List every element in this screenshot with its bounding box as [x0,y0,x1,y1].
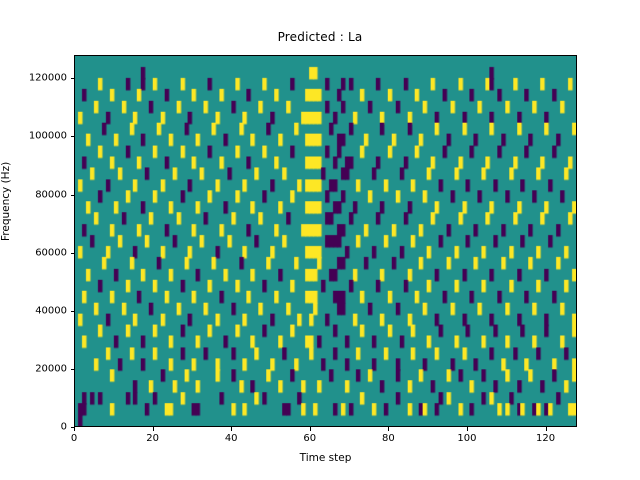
y-tick-mark [71,253,75,254]
y-tick-label: 120000 [29,73,67,84]
x-tick-mark [467,427,468,431]
x-tick-label: 20 [146,433,159,444]
matplotlib-figure: Predicted : La 0200004000060000800001000… [0,0,640,480]
x-tick-mark [231,427,232,431]
y-tick-label: 60000 [35,247,67,258]
heatmap-canvas [75,56,576,426]
y-tick-label: 40000 [35,305,67,316]
x-tick-mark [546,427,547,431]
x-tick-mark [153,427,154,431]
page-title: Predicted : La [0,30,640,44]
x-tick-mark [310,427,311,431]
y-tick-label: 0 [61,422,67,433]
x-tick-label: 40 [225,433,238,444]
y-tick-mark [71,311,75,312]
y-axis-label: Frequency (Hz) [0,162,12,241]
x-tick-mark [74,427,75,431]
y-tick-mark [71,136,75,137]
x-tick-label: 80 [382,433,395,444]
x-tick-label: 120 [536,433,555,444]
x-tick-label: 100 [457,433,476,444]
heatmap-axes [74,55,577,427]
y-tick-mark [71,195,75,196]
y-tick-label: 100000 [29,131,67,142]
x-tick-label: 60 [303,433,316,444]
y-tick-mark [71,369,75,370]
y-tick-label: 80000 [35,189,67,200]
x-tick-label: 0 [71,433,77,444]
y-tick-mark [71,78,75,79]
x-tick-mark [388,427,389,431]
y-tick-label: 20000 [35,363,67,374]
x-axis-label: Time step [74,452,577,464]
